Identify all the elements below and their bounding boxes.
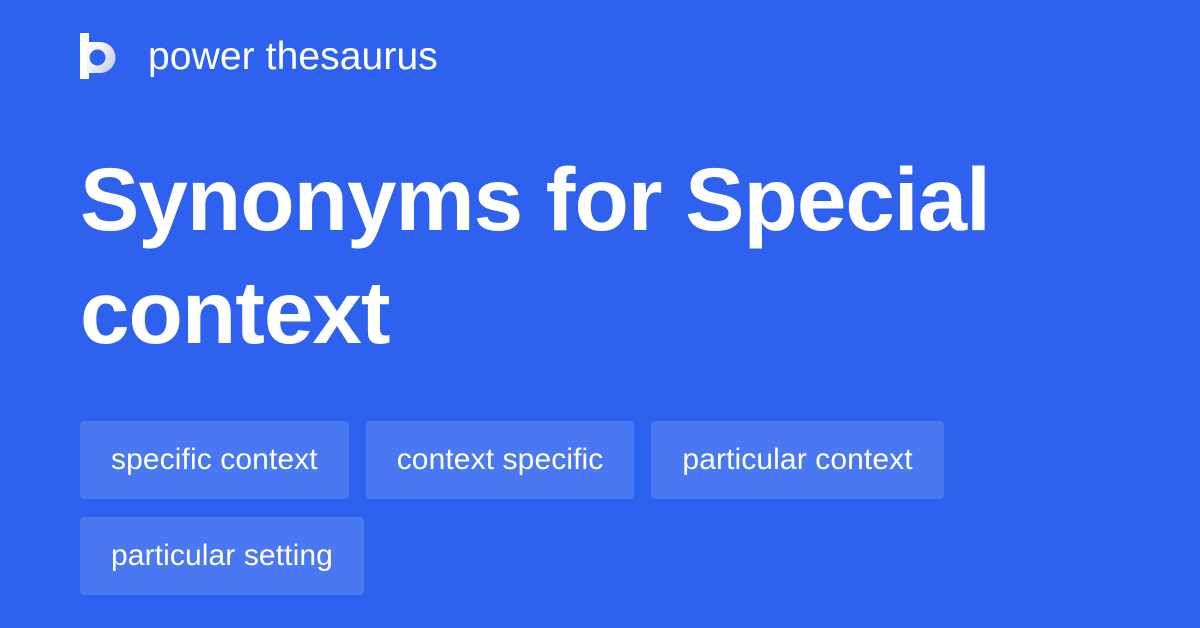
synonym-chip[interactable]: particular setting (80, 517, 364, 595)
brand-logo[interactable]: power thesaurus (80, 28, 438, 84)
power-thesaurus-b-logo-icon (80, 33, 118, 79)
share-card: power thesaurus Synonyms for Special con… (0, 0, 1200, 628)
synonym-chip-label: particular setting (111, 539, 333, 573)
synonym-chip[interactable]: specific context (80, 421, 349, 499)
synonym-chip-list: specific context context specific partic… (80, 421, 1140, 595)
page-title-line-1: Synonyms for Special (80, 143, 1120, 256)
brand-name: power thesaurus (148, 37, 438, 76)
page-title: Synonyms for Special context (80, 143, 1120, 369)
synonym-chip-label: specific context (111, 443, 318, 477)
synonym-chip[interactable]: context specific (366, 421, 635, 499)
page-title-line-2: context (80, 256, 1120, 369)
synonym-chip[interactable]: particular context (651, 421, 943, 499)
synonym-chip-label: context specific (397, 443, 604, 477)
synonym-chip-label: particular context (682, 443, 912, 477)
